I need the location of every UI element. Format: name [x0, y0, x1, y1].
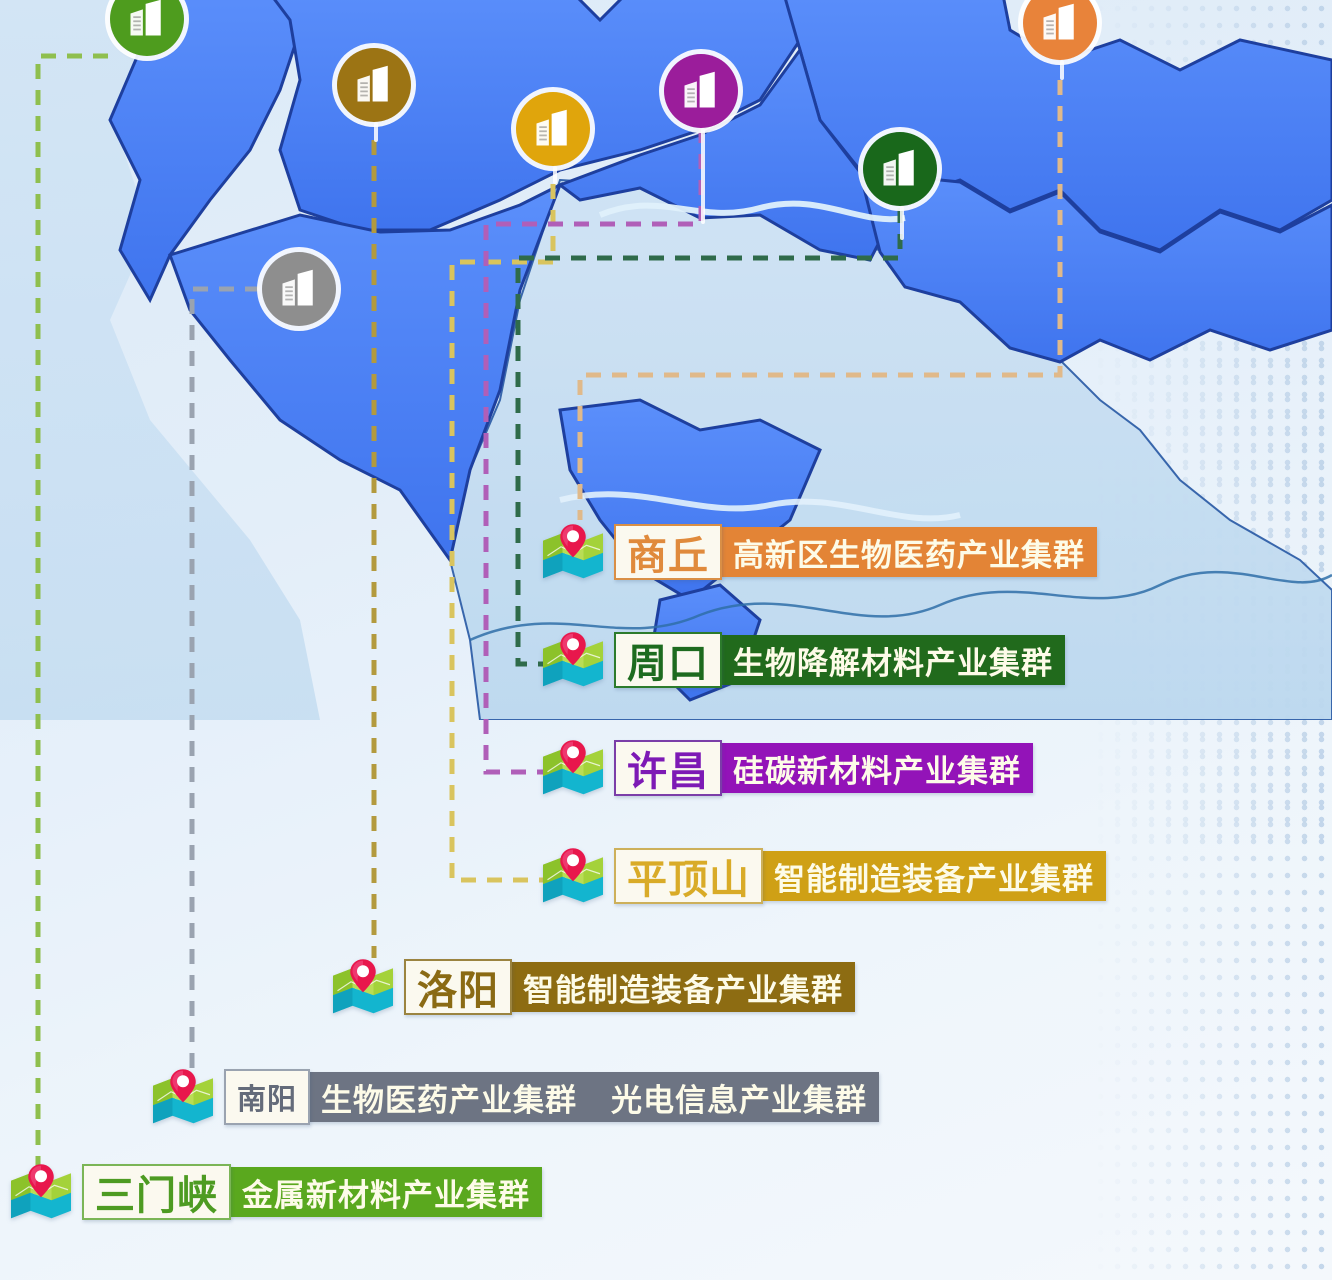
map-pin-icon	[540, 737, 606, 799]
city-name-box: 南阳	[224, 1069, 310, 1125]
cluster-name-bar: 高新区生物医药产业集群	[719, 527, 1097, 577]
row-nanyang[interactable]: 南阳生物医药产业集群光电信息产业集群	[150, 1060, 879, 1134]
map-pin-icon	[540, 845, 606, 907]
cluster-name: 金属新材料产业集群	[242, 1170, 530, 1215]
cluster-name-bar: 生物降解材料产业集群	[719, 635, 1065, 685]
cluster-name: 智能制造装备产业集群	[774, 854, 1094, 899]
cluster-name: 智能制造装备产业集群	[523, 965, 843, 1010]
row-luoyang[interactable]: 洛阳智能制造装备产业集群	[330, 950, 855, 1024]
cluster-name-bar: 智能制造装备产业集群	[509, 962, 855, 1012]
cluster-name-bar: 智能制造装备产业集群	[760, 851, 1106, 901]
cluster-name-bar: 生物医药产业集群光电信息产业集群	[307, 1072, 879, 1122]
city-name-box: 三门峡	[82, 1164, 231, 1220]
city-name-box: 商丘	[614, 524, 722, 580]
map-pin-icon	[150, 1066, 216, 1128]
building-icon	[679, 69, 723, 113]
infographic-stage: 商丘高新区生物医药产业集群周口生物降解材料产业集群许昌硅碳新材料产业集群平顶山智…	[0, 0, 1332, 1280]
city-name-box: 平顶山	[614, 848, 763, 904]
cluster-name-bar: 硅碳新材料产业集群	[719, 743, 1033, 793]
row-shangqiu[interactable]: 商丘高新区生物医药产业集群	[540, 515, 1097, 589]
building-icon	[531, 107, 575, 151]
city-name-box: 洛阳	[404, 959, 512, 1015]
marker-luoyang[interactable]	[337, 48, 411, 122]
cluster-name: 光电信息产业集群	[611, 1075, 867, 1120]
cluster-name: 生物医药产业集群	[321, 1075, 577, 1120]
cluster-name: 硅碳新材料产业集群	[733, 746, 1021, 791]
cluster-name: 高新区生物医药产业集群	[733, 530, 1085, 575]
cluster-name: 生物降解材料产业集群	[733, 638, 1053, 683]
city-name-box: 周口	[614, 632, 722, 688]
row-zhoukou[interactable]: 周口生物降解材料产业集群	[540, 623, 1065, 697]
row-pingdingshan[interactable]: 平顶山智能制造装备产业集群	[540, 839, 1106, 913]
building-icon	[352, 63, 396, 107]
map-pin-icon	[540, 629, 606, 691]
map-pin-icon	[540, 521, 606, 583]
map-pin-icon	[8, 1161, 74, 1223]
henan-province-map	[0, 0, 1332, 720]
marker-xuchang[interactable]	[664, 54, 738, 128]
marker-luoyang-stem	[374, 122, 378, 142]
marker-nanyang[interactable]	[262, 252, 336, 326]
map-pin-icon	[330, 956, 396, 1018]
building-icon	[1038, 1, 1082, 45]
row-sanmenxia[interactable]: 三门峡金属新材料产业集群	[8, 1155, 542, 1229]
city-name-box: 许昌	[614, 740, 722, 796]
marker-shangqiu-stem	[1060, 60, 1064, 80]
row-xuchang[interactable]: 许昌硅碳新材料产业集群	[540, 731, 1033, 805]
cluster-name-bar: 金属新材料产业集群	[228, 1167, 542, 1217]
marker-pingdingshan[interactable]	[516, 92, 590, 166]
marker-pingdingshan-stem	[553, 166, 557, 184]
building-icon	[878, 147, 922, 191]
building-icon	[277, 267, 321, 311]
building-icon	[125, 0, 169, 41]
marker-zhoukou-stem	[900, 206, 904, 240]
marker-xuchang-stem	[701, 128, 705, 224]
marker-zhoukou[interactable]	[863, 132, 937, 206]
